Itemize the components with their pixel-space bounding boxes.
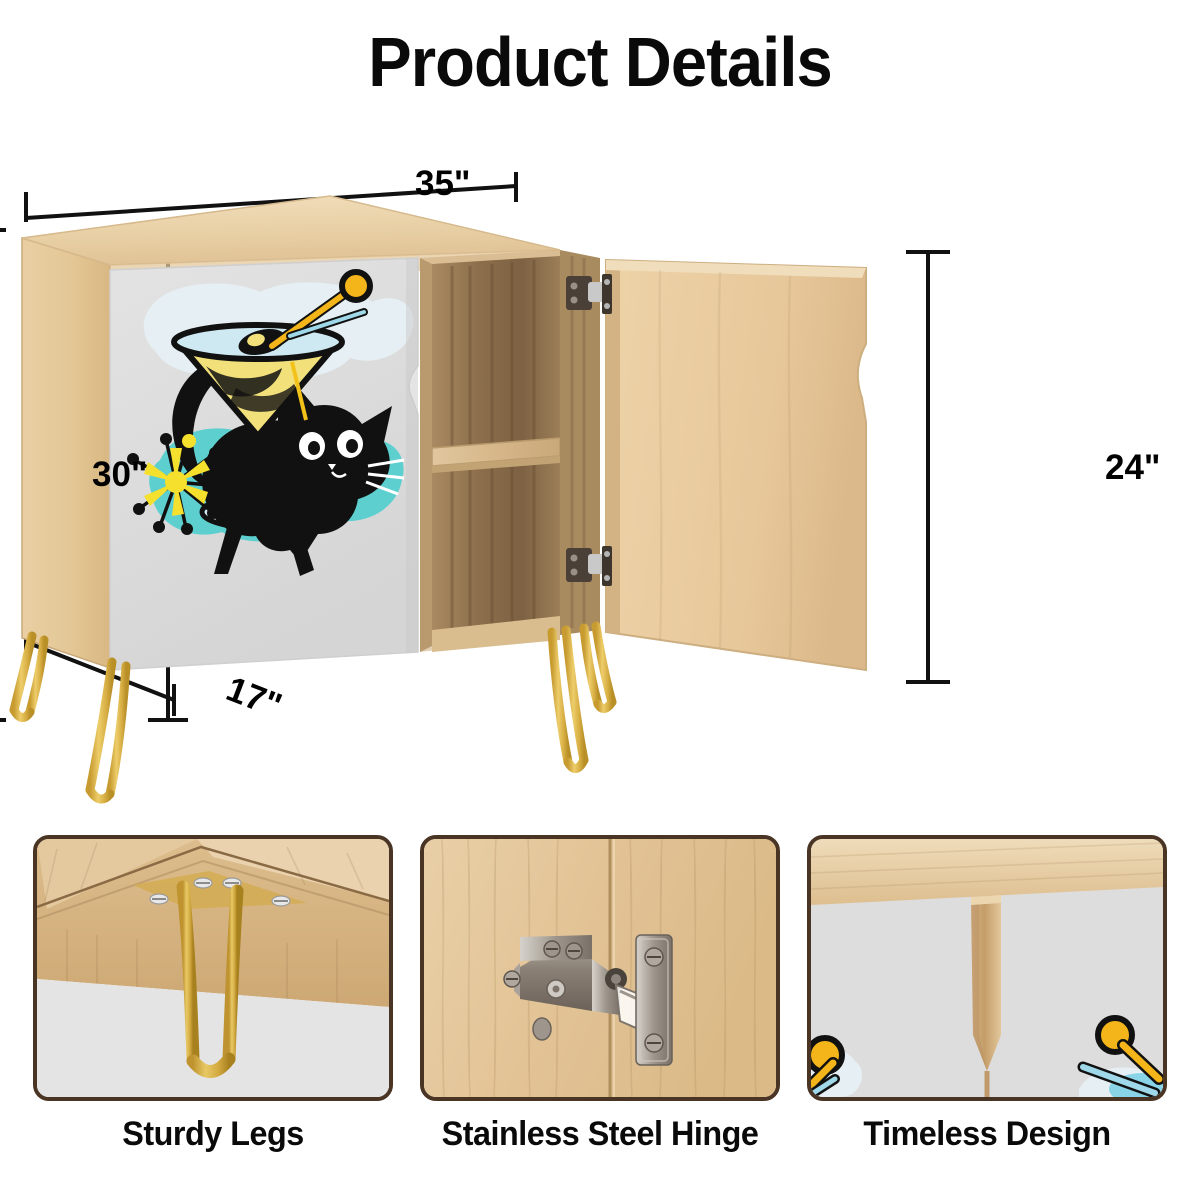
page-title: Product Details [42,22,1158,102]
dimension-label-height: 30" [92,455,148,495]
leg-front-left [90,662,126,799]
feature-panels: Sturdy Legs [0,835,1200,1175]
dimension-label-door-height: 24" [1105,448,1161,488]
cabinet-open-door[interactable] [606,260,866,670]
feature-image-hinge [420,835,780,1101]
feature-image-timeless-design [807,835,1167,1101]
feature-timeless-design: Timeless Design [807,835,1167,1154]
product-hero-illustration [0,130,1200,820]
feature-stainless-steel-hinge: Stainless Steel Hinge [420,835,780,1154]
dimension-label-width: 35" [415,164,471,204]
feature-sturdy-legs: Sturdy Legs [33,835,393,1154]
cabinet-closed-door[interactable] [110,258,418,670]
hinge-upper [566,274,612,314]
feature-caption-sturdy-legs: Sturdy Legs [42,1115,384,1154]
feature-image-sturdy-legs [33,835,393,1101]
hinge-lower [566,546,612,586]
leg-rear-left [14,636,44,718]
cabinet-interior [420,250,600,652]
leg-front-right [552,630,584,769]
leg-rear-right [584,626,612,709]
feature-caption-timeless-design: Timeless Design [816,1115,1158,1154]
cabinet-left-side [22,238,110,668]
feature-caption-hinge: Stainless Steel Hinge [429,1115,771,1154]
